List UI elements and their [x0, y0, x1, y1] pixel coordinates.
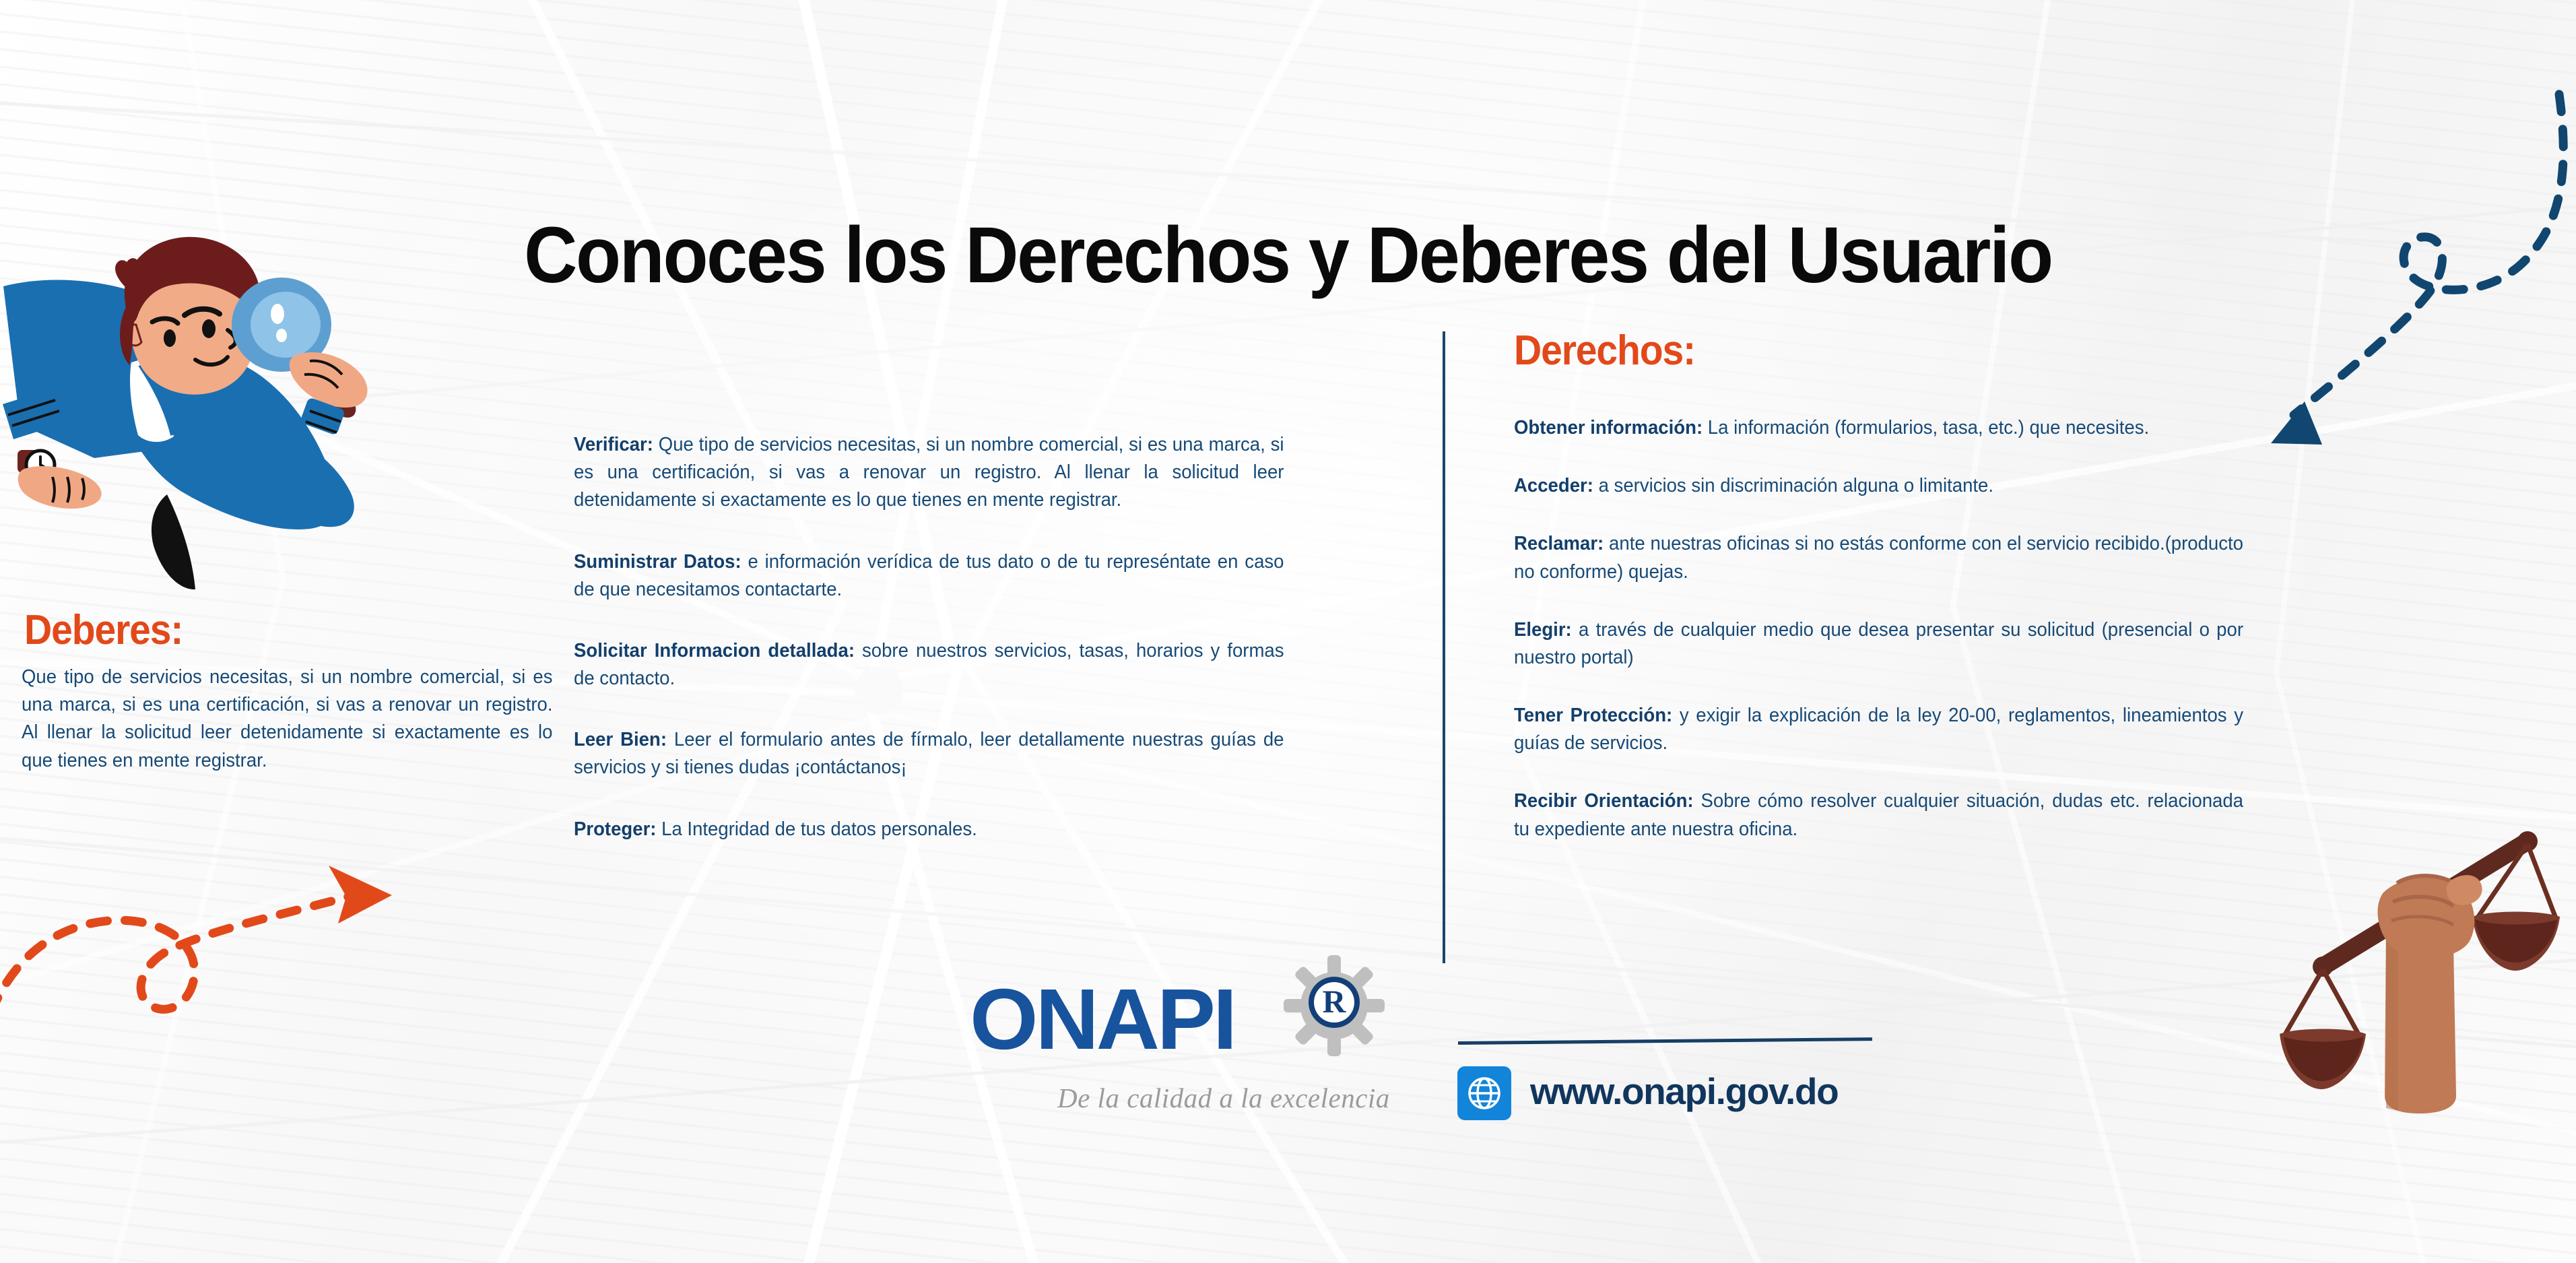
infographic-poster: Conoces los Derechos y Deberes del Usuar… — [0, 0, 2576, 1263]
website-badge[interactable] — [1457, 1066, 1511, 1120]
derechos-list: Obtener información: La información (for… — [1514, 414, 2243, 874]
deberes-intro-paragraph: Que tipo de servicios necesitas, si un n… — [22, 663, 553, 775]
scales-of-justice-illustration — [2259, 818, 2576, 1263]
onapi-wordmark: ONAPI — [970, 970, 1234, 1069]
list-item: Solicitar Informacion detallada: sobre n… — [574, 637, 1284, 692]
item-label: Obtener información: — [1514, 417, 1703, 439]
item-label: Proteger: — [574, 818, 656, 840]
item-text: Que tipo de servicios necesitas, si un n… — [574, 434, 1284, 511]
list-item: Recibir Orientación: Sobre cómo resolver… — [1514, 787, 2243, 843]
item-label: Verificar: — [574, 434, 653, 455]
list-item: Obtener información: La información (for… — [1514, 414, 2243, 442]
item-text: La Integridad de tus datos personales. — [656, 818, 977, 840]
orange-dashed-loop-arrow-icon — [0, 845, 411, 1081]
list-item: Verificar: Que tipo de servicios necesit… — [574, 431, 1284, 515]
item-text: ante nuestras oficinas si no estás confo… — [1514, 533, 2243, 582]
item-label: Leer Bien: — [574, 729, 667, 750]
item-label: Reclamar: — [1514, 533, 1604, 554]
list-item: Tener Protección: y exigir la explicació… — [1514, 702, 2243, 757]
gear-registered-mark-icon: R — [1284, 955, 1385, 1056]
list-item: Elegir: a través de cualquier medio que … — [1514, 616, 2243, 672]
list-item: Proteger: La Integridad de tus datos per… — [574, 816, 1284, 843]
website-url[interactable]: www.onapi.gov.do — [1530, 1070, 1838, 1113]
list-item: Leer Bien: Leer el formulario antes de f… — [574, 726, 1284, 781]
item-label: Suministrar Datos: — [574, 551, 741, 573]
registered-r-letter: R — [1323, 984, 1347, 1020]
list-item: Acceder: a servicios sin discriminación … — [1514, 472, 2243, 500]
item-label: Solicitar Informacion detallada: — [574, 640, 855, 661]
item-text: a través de cualquier medio que desea pr… — [1514, 619, 2243, 668]
onapi-logo: ONAPI R De la calidad a la excelencia — [970, 970, 1428, 1125]
item-text: a servicios sin discriminación alguna o … — [1593, 475, 1993, 496]
item-label: Tener Protección: — [1514, 705, 1672, 726]
list-item: Suministrar Datos: e información verídic… — [574, 548, 1284, 604]
page-title: Conoces los Derechos y Deberes del Usuar… — [90, 209, 2486, 301]
item-text: Leer el formulario antes de fírmalo, lee… — [574, 729, 1284, 778]
deberes-intro-text: Que tipo de servicios necesitas, si un n… — [22, 663, 553, 775]
deberes-detail-list: Verificar: Que tipo de servicios necesit… — [574, 431, 1284, 877]
globe-icon — [1467, 1076, 1502, 1111]
item-label: Elegir: — [1514, 619, 1572, 641]
onapi-tagline: De la calidad a la excelencia — [1057, 1082, 1390, 1114]
column-divider — [1443, 331, 1445, 963]
item-label: Recibir Orientación: — [1514, 790, 1694, 812]
derechos-heading: Derechos: — [1514, 327, 1695, 375]
item-text: La información (formularios, tasa, etc.)… — [1703, 417, 2149, 439]
deberes-heading: Deberes: — [24, 606, 183, 654]
item-label: Acceder: — [1514, 475, 1593, 496]
list-item: Reclamar: ante nuestras oficinas si no e… — [1514, 530, 2243, 585]
